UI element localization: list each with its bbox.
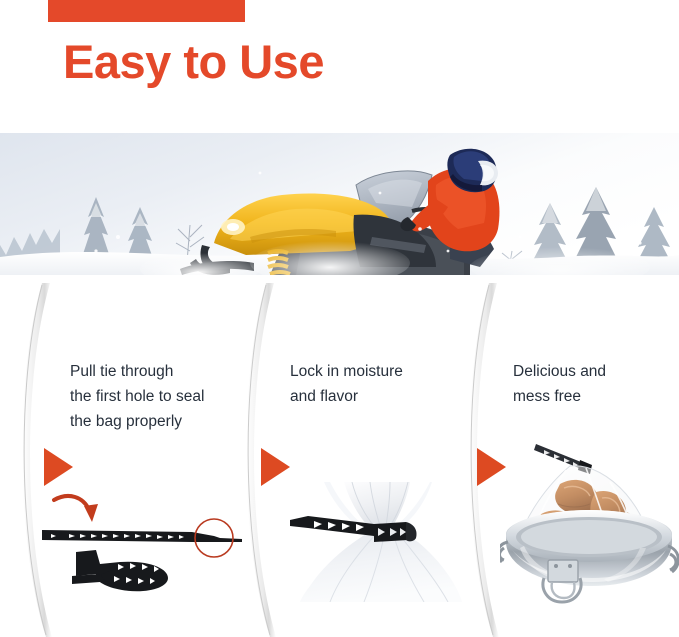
red-curved-arrow-icon [54,496,98,522]
banner-image [0,133,679,275]
snowmobile-hero-graphic [0,133,679,275]
page-title: Easy to Use [63,34,324,90]
tie-strip [42,530,242,542]
bag-cinched-with-tie-illustration [290,482,470,602]
step-1-text: Pull tie through the first hole to seal … [70,359,204,434]
step-3-text: Delicious and mess free [513,359,606,409]
tie-through-first-hole-illustration [42,490,257,600]
easy-to-use-infographic: Easy to Use [0,0,679,637]
tie-looped [72,550,168,591]
pan-front-clamp [543,560,581,602]
step-2-text: Lock in moisture and flavor [290,359,403,409]
step-arrow-icon [44,448,73,486]
roasting-pan-with-bagged-meat-illustration [500,438,679,623]
header-accent-bar [48,0,245,22]
step-arrow-icon [261,448,290,486]
roasting-pan [506,510,672,586]
